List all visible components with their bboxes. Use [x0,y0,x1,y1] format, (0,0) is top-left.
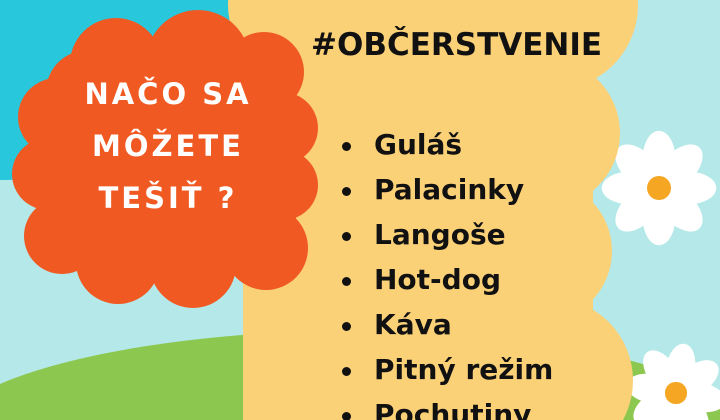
list-item-label: Langoše [374,218,506,251]
list-item: Guláš [339,122,553,167]
callout-line-1: NAČO SA [18,68,318,120]
menu-list: Guláš Palacinky Langoše Hot-dog Káva Pit… [339,122,553,420]
list-item: Pochutiny [339,392,553,420]
poster-canvas: NAČO SA MÔŽETE TEŠIŤ ? #OBČERSTVENIE Gul… [0,0,720,420]
list-item-label: Pitný režim [374,353,553,386]
orange-blob-lobe [150,222,236,308]
daisy-flower-icon [604,133,714,243]
daisy-center [647,176,671,200]
list-item: Palacinky [339,167,553,212]
callout-line-3: TEŠIŤ ? [18,172,318,224]
list-item: Pitný režim [339,347,553,392]
callout-text: NAČO SA MÔŽETE TEŠIŤ ? [18,68,318,224]
list-item-label: Hot-dog [374,263,501,296]
list-item: Langoše [339,212,553,257]
list-item-label: Pochutiny [374,398,531,420]
callout-line-2: MÔŽETE [18,120,318,172]
list-item-label: Káva [374,308,452,341]
daisy-flower-icon [628,345,720,420]
list-item-label: Palacinky [374,173,524,206]
list-item: Hot-dog [339,257,553,302]
list-item-label: Guláš [374,128,462,161]
section-hashtag-title: #OBČERSTVENIE [311,27,602,63]
list-item: Káva [339,302,553,347]
daisy-center [665,382,686,403]
